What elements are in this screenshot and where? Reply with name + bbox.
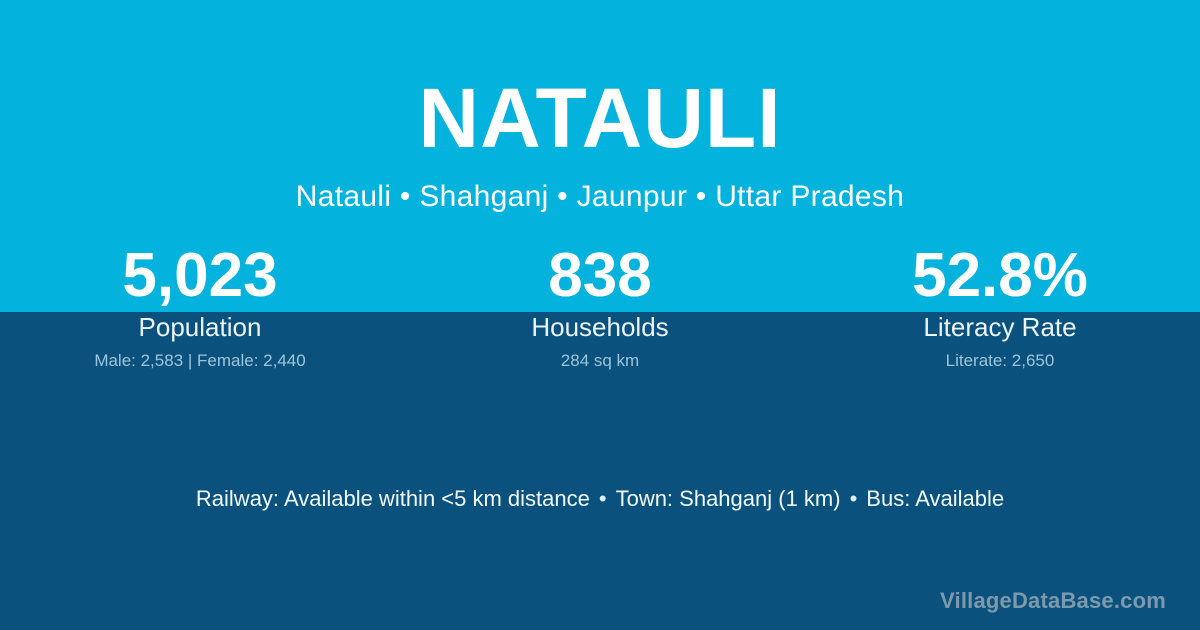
amenity-bus: Bus: Available: [866, 486, 1004, 511]
stat-label: Households: [400, 312, 800, 342]
stat-value: 838: [400, 244, 800, 308]
stat-value: 52.8%: [800, 244, 1200, 308]
stat-label: Literacy Rate: [800, 312, 1200, 342]
stat-sub-detail: 284 sq km: [400, 351, 800, 371]
stat-literacy-rate: 52.8% Literacy Rate Literate: 2,650: [800, 244, 1200, 371]
amenities-line: Railway: Available within <5 km distance…: [0, 484, 1200, 514]
village-stats-card: NATAULI Natauli • Shahganj • Jaunpur • U…: [0, 0, 1200, 630]
amenity-separator: •: [590, 484, 616, 514]
stat-label: Population: [0, 312, 400, 342]
card-header: NATAULI Natauli • Shahganj • Jaunpur • U…: [0, 0, 1200, 213]
stat-sub-detail: Literate: 2,650: [800, 351, 1200, 371]
stat-population: 5,023 Population Male: 2,583 | Female: 2…: [0, 244, 400, 371]
amenity-separator: •: [841, 484, 867, 514]
site-watermark: VillageDataBase.com: [940, 588, 1166, 614]
stat-sub-detail: Male: 2,583 | Female: 2,440: [0, 351, 400, 371]
stat-value: 5,023: [0, 244, 400, 308]
breadcrumb: Natauli • Shahganj • Jaunpur • Uttar Pra…: [0, 180, 1200, 213]
amenity-town: Town: Shahganj (1 km): [616, 486, 841, 511]
stat-households: 838 Households 284 sq km: [400, 244, 800, 371]
stats-row: 5,023 Population Male: 2,583 | Female: 2…: [0, 244, 1200, 371]
page-title: NATAULI: [0, 76, 1200, 160]
amenity-railway: Railway: Available within <5 km distance: [196, 486, 590, 511]
